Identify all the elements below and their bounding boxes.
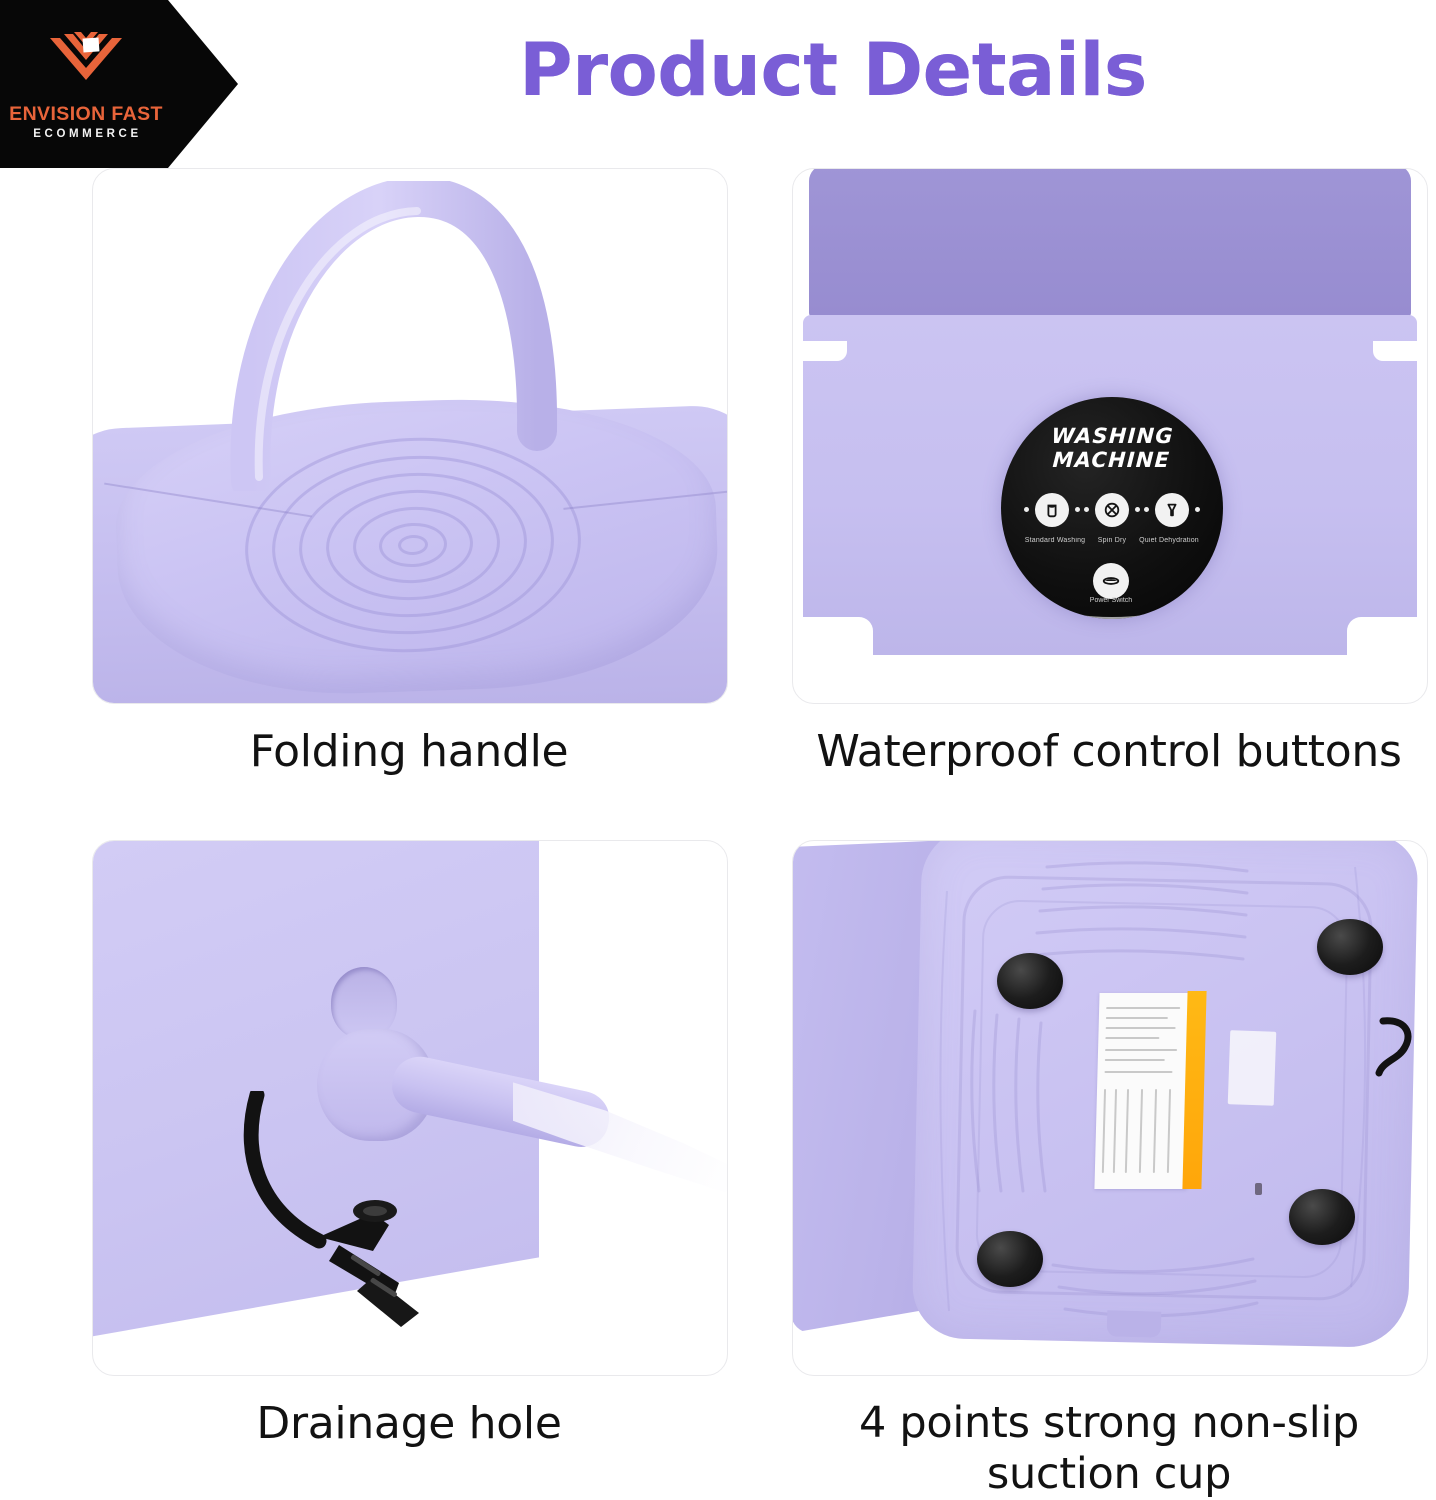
control-panel-title: WASHING MACHINE <box>1001 425 1223 472</box>
brand-badge: ENVISION FAST ECOMMERCE <box>0 0 238 168</box>
caption-control-buttons: Waterproof control buttons <box>792 726 1426 778</box>
brand-name: ENVISION FAST <box>9 104 163 124</box>
suction-cup <box>1317 919 1383 975</box>
power-button-label: Power Switch <box>1061 597 1161 604</box>
control-panel-title-line1: WASHING <box>1051 424 1175 448</box>
tub-notch-right <box>1373 341 1419 361</box>
washer-foot-left <box>803 617 873 659</box>
wash-mode-icon[interactable] <box>1035 493 1069 527</box>
spin-dry-icon[interactable] <box>1095 493 1129 527</box>
control-button-label-1: Standard Washing <box>1023 537 1087 546</box>
detail-cell-folding-handle: Folding handle <box>92 168 726 778</box>
timer-icon[interactable] <box>1155 493 1189 527</box>
control-panel-title-line2: MACHINE <box>1052 448 1171 472</box>
photo-card-suction-cup <box>792 840 1428 1376</box>
washer-front: WASHING MACHINE <box>803 168 1417 665</box>
detail-cell-drainage-hole: Drainage hole <box>92 840 726 1450</box>
details-grid: Folding handle WASHING MACHINE <box>0 168 1436 1500</box>
washer-top-lid <box>809 168 1411 317</box>
control-panel-disc[interactable]: WASHING MACHINE <box>1001 397 1223 619</box>
brand-inner: ENVISION FAST ECOMMERCE <box>0 26 170 142</box>
caption-suction-cup: 4 points strong non-slip suction cup <box>792 1398 1426 1499</box>
page-header: ENVISION FAST ECOMMERCE Product Details <box>0 0 1436 168</box>
folding-handle-icon <box>221 181 581 491</box>
base-screw-hole <box>1255 1183 1262 1195</box>
suction-cup <box>1289 1189 1355 1245</box>
washer-underside <box>797 840 1417 1376</box>
caption-drainage-hole: Drainage hole <box>92 1398 726 1450</box>
control-button-label-2: Spin Dry <box>1080 537 1144 546</box>
photo-card-control-buttons: WASHING MACHINE <box>792 168 1428 704</box>
drain-hose-clamp-icon <box>223 1091 483 1341</box>
caption-suction-cup-line2: suction cup <box>792 1449 1426 1500</box>
washer-foot-right <box>1347 617 1417 659</box>
photo-card-drainage-hole <box>92 840 728 1376</box>
control-button-label-3: Quiet Dehydration <box>1137 537 1201 546</box>
drainage-hole-opening <box>331 967 397 1039</box>
caption-suction-cup-line1: 4 points strong non-slip <box>792 1398 1426 1449</box>
suction-cup <box>997 953 1063 1009</box>
chevron-logo-icon <box>44 26 128 100</box>
power-icon[interactable] <box>1093 563 1129 599</box>
page-title: Product Details <box>268 34 1398 107</box>
suction-cup <box>977 1231 1043 1287</box>
tub-notch-left <box>801 341 847 361</box>
qr-sticker <box>1228 1030 1277 1106</box>
detail-cell-control-buttons: WASHING MACHINE <box>792 168 1426 778</box>
photo-card-folding-handle <box>92 168 728 704</box>
detail-cell-suction-cup: 4 points strong non-slip suction cup <box>792 840 1426 1499</box>
hose-clip-icon <box>1375 1017 1419 1081</box>
product-label <box>1094 993 1191 1189</box>
base-nub <box>1107 1310 1162 1337</box>
caption-folding-handle: Folding handle <box>92 726 726 778</box>
brand-tagline: ECOMMERCE <box>30 126 141 142</box>
control-button-row <box>1001 493 1223 527</box>
